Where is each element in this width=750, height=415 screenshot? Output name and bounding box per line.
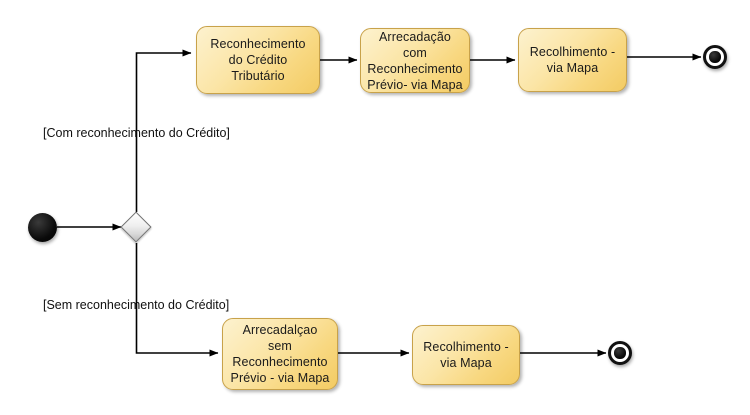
activity-node-arrecadalcao-sem-reconhecimento-previo[interactable]: Arrecadalçao sem Reconhecimento Prévio -… xyxy=(222,318,338,390)
final-node-top[interactable] xyxy=(703,45,727,69)
final-node-core-bottom xyxy=(614,347,625,358)
guard-label-lower: [Sem reconhecimento do Crédito] xyxy=(43,298,229,313)
decision-node[interactable] xyxy=(120,211,151,242)
activity-diagram-canvas: [Com reconhecimento do Crédito] [Sem rec… xyxy=(0,0,750,415)
final-node-core-top xyxy=(709,51,720,62)
activity-node-reconhecimento-credito-tributario[interactable]: Reconhecimento do Crédito Tributário xyxy=(196,26,320,94)
initial-node[interactable] xyxy=(28,213,57,242)
final-node-bottom[interactable] xyxy=(608,341,632,365)
guard-label-upper: [Com reconhecimento do Crédito] xyxy=(43,126,230,141)
activity-node-recolhimento-via-mapa-top[interactable]: Recolhimento - via Mapa xyxy=(518,28,627,92)
activity-node-arrecadacao-com-reconhecimento-previo[interactable]: Arrecadação com Reconhecimento Prévio- v… xyxy=(360,28,470,93)
activity-node-recolhimento-via-mapa-bottom[interactable]: Recolhimento - via Mapa xyxy=(412,325,520,385)
